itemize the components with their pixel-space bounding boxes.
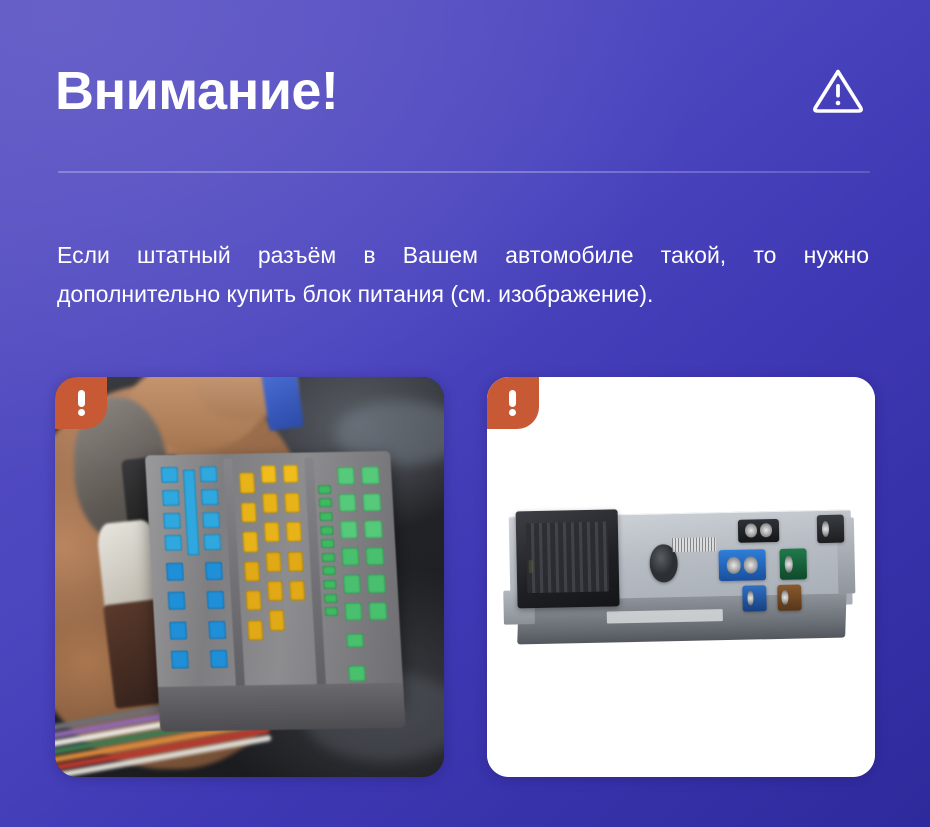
banner-header: Внимание! bbox=[55, 48, 870, 134]
power-supply-module bbox=[508, 509, 852, 644]
notice-text: Если штатный разъём в Вашем автомобиле т… bbox=[57, 236, 869, 314]
notice-line-1: Если штатный разъём в Вашем автомобиле т… bbox=[57, 236, 869, 275]
power-supply-photo-card[interactable] bbox=[487, 377, 876, 777]
notice-line-2: дополнительно купить блок питания (см. и… bbox=[57, 275, 869, 314]
connector-body bbox=[145, 451, 404, 707]
page-title: Внимание! bbox=[55, 59, 338, 123]
module-main-connector bbox=[515, 509, 620, 608]
power-supply-photo bbox=[487, 377, 876, 777]
car-connector-photo-card[interactable] bbox=[55, 377, 444, 777]
warning-banner: Внимание! Если штатный разъём в Вашем ав… bbox=[0, 0, 930, 827]
exclamation-badge-icon bbox=[55, 377, 107, 429]
photo-card-group bbox=[55, 377, 875, 777]
exclamation-badge-icon bbox=[487, 377, 539, 429]
header-divider bbox=[58, 171, 870, 173]
warning-triangle-icon bbox=[810, 63, 866, 119]
car-connector-photo bbox=[55, 377, 444, 777]
